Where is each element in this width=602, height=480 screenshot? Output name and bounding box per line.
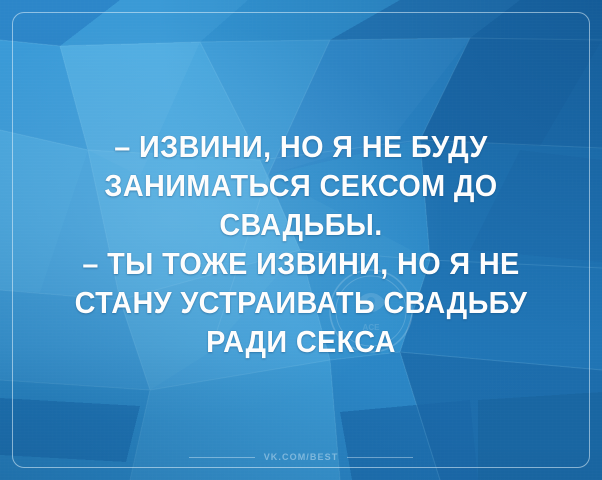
quote-line: ЗАНИМАТЬСЯ СЕКСОМ ДО (21, 166, 581, 205)
quote-line: – ТЫ ТОЖЕ ИЗВИНИ, НО Я НЕ (21, 244, 581, 283)
meme-card: ACE – ИЗВИНИ, НО Я НЕ БУДУ ЗАНИМАТЬСЯ СЕ… (0, 0, 602, 480)
quote-text-block: – ИЗВИНИ, НО Я НЕ БУДУ ЗАНИМАТЬСЯ СЕКСОМ… (0, 127, 602, 361)
quote-line: – ИЗВИНИ, НО Я НЕ БУДУ (21, 127, 581, 166)
quote-line: СТАНУ УСТРАИВАТЬ СВАДЬБУ (21, 283, 581, 322)
quote-line: СВАДЬБЫ. (21, 205, 581, 244)
quote-line: РАДИ СЕКСА (21, 322, 581, 361)
